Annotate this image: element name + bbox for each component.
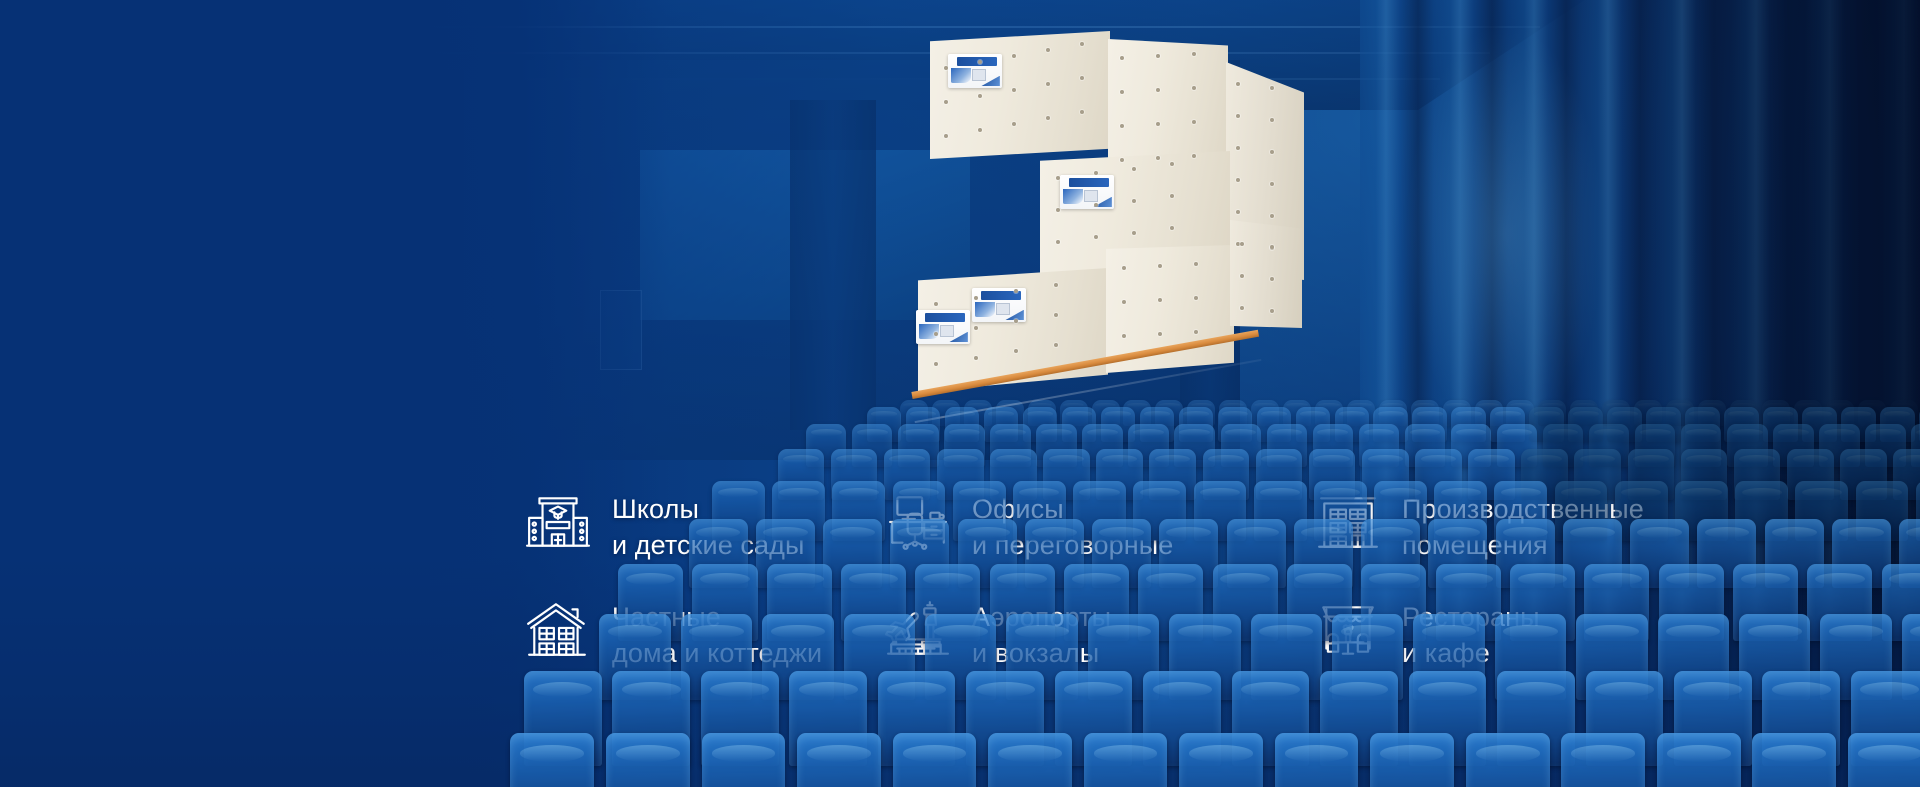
- panel-screw: [1236, 178, 1240, 182]
- panel-screw: [944, 66, 948, 70]
- panel-screw: [1054, 313, 1058, 317]
- seat: [1370, 733, 1454, 787]
- seat: [1657, 733, 1741, 787]
- panel-screw: [934, 332, 938, 336]
- product-label: [948, 54, 1002, 88]
- panel-screw: [1270, 245, 1274, 249]
- panel-screw: [1120, 124, 1124, 128]
- panel-screw: [1120, 90, 1124, 94]
- panel-screw: [1122, 266, 1126, 270]
- panel-screw: [1236, 82, 1240, 86]
- panel-screw: [934, 362, 938, 366]
- panel-screw: [1122, 300, 1126, 304]
- product-label: [916, 310, 970, 344]
- panel-screw: [944, 100, 948, 104]
- seat: [893, 733, 977, 787]
- panel-screw: [974, 356, 978, 360]
- house-icon: [525, 597, 591, 663]
- panel-screw: [974, 296, 978, 300]
- panel-screw: [974, 326, 978, 330]
- panel-screw: [934, 302, 938, 306]
- seat: [1179, 733, 1263, 787]
- panel-screw: [1236, 146, 1240, 150]
- panel-screw: [944, 134, 948, 138]
- panel-screw: [1270, 277, 1274, 281]
- seat: [1848, 733, 1920, 787]
- panel-screw: [1156, 54, 1160, 58]
- seat: [988, 733, 1072, 787]
- hero-banner: Школы и детские сады: [0, 0, 1920, 787]
- panel-screw: [1270, 309, 1274, 313]
- seat: [1752, 733, 1836, 787]
- panel-screw: [1056, 176, 1060, 180]
- panel-screw: [1156, 122, 1160, 126]
- panel-screw: [1240, 242, 1244, 246]
- product-label: [1060, 175, 1114, 209]
- panel-screw: [1156, 88, 1160, 92]
- panel-screw: [1192, 120, 1196, 124]
- school-building-icon: [525, 489, 591, 555]
- panel-top-left: [930, 31, 1110, 159]
- panel-screw: [1120, 158, 1124, 162]
- panel-screw: [1156, 156, 1160, 160]
- panel-screw: [1132, 199, 1136, 203]
- panel-screw: [1054, 283, 1058, 287]
- panel-screw: [1122, 334, 1126, 338]
- panel-screw: [1240, 274, 1244, 278]
- panel-screw: [1240, 306, 1244, 310]
- seat: [606, 733, 690, 787]
- panel-screw: [1236, 114, 1240, 118]
- product-label: [972, 288, 1026, 322]
- seat: [1466, 733, 1550, 787]
- panel-screw: [1054, 343, 1058, 347]
- panel-screw: [1236, 210, 1240, 214]
- panel-screw: [1132, 167, 1136, 171]
- seat: [1275, 733, 1359, 787]
- seat: [510, 733, 594, 787]
- panel-screw: [1120, 56, 1124, 60]
- panel-screw: [1192, 86, 1196, 90]
- panel-screw: [1056, 240, 1060, 244]
- seat: [1084, 733, 1168, 787]
- panel-screw: [1132, 231, 1136, 235]
- panel-screw: [1192, 52, 1196, 56]
- seat: [1561, 733, 1645, 787]
- seat: [702, 733, 786, 787]
- panel-screw: [1192, 154, 1196, 158]
- panel-top-right: [1108, 39, 1228, 168]
- seat: [797, 733, 881, 787]
- panel-screw: [1056, 208, 1060, 212]
